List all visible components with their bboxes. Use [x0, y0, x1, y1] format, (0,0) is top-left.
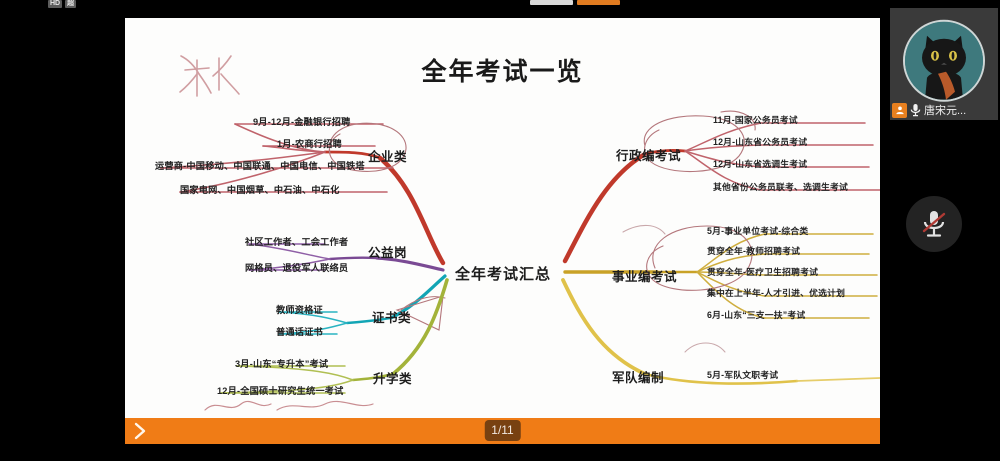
page-indicator: 1/11 [484, 420, 520, 441]
leaf-xingzheng-2: 12月-山东省公务员考试 [713, 135, 807, 148]
participant-name: 唐宋元... [924, 102, 966, 118]
leaf-zhengshu-1: 教师资格证 [276, 302, 323, 316]
leaf-shiye-1: 5月-事业单位考试-综合类 [707, 224, 808, 237]
leaf-shiye-5: 6月-山东“三支一扶”考试 [707, 308, 805, 321]
meeting-screen-share-view: HD 超 全年考试一览 [0, 0, 1000, 461]
microphone-muted-icon[interactable] [920, 209, 948, 239]
mindmap-center-node: 全年考试汇总 [455, 263, 551, 284]
leaf-shengxue-1: 3月-山东“专升本”考试 [235, 356, 328, 370]
leaf-qiye-1: 9月-12月-金融银行招聘 [253, 114, 351, 128]
leaf-xingzheng-4: 其他省份公务员联考、选调生考试 [713, 180, 848, 193]
leaf-qiye-3: 运营商-中国移动、中国联通、中国电信、中国铁塔 [155, 158, 365, 172]
branch-label-qiye: 企业类 [368, 146, 407, 165]
quality-badge: 超 [65, 0, 76, 8]
cat-avatar-icon [905, 22, 983, 100]
leaf-xingzheng-1: 11月-国家公务员考试 [713, 113, 798, 126]
microphone-icon [910, 103, 921, 117]
video-quality-badges: HD 超 [48, 0, 76, 9]
strip-segment-accent [577, 0, 620, 5]
leaf-shiye-2: 贯穿全年-教师招聘考试 [707, 244, 800, 257]
shared-slide: 全年考试一览 [125, 18, 880, 418]
branch-label-shengxue: 升学类 [373, 368, 412, 387]
leaf-qiye-4: 国家电网、中国烟草、中石油、中石化 [180, 182, 340, 196]
mute-microphone-button[interactable] [906, 196, 962, 252]
host-icon [892, 103, 907, 118]
leaf-gongyi-1: 社区工作者、工会工作者 [245, 234, 348, 248]
leaf-shengxue-2: 12月-全国硕士研究生统一考试 [217, 383, 344, 397]
slide-navigation-bar[interactable]: 1/11 [125, 418, 880, 444]
chevron-right-icon[interactable] [132, 422, 148, 440]
avatar [903, 20, 985, 102]
leaf-xingzheng-3: 12月-山东省选调生考试 [713, 157, 807, 170]
branch-label-jundui: 军队编制 [612, 367, 664, 386]
leaf-shiye-3: 贯穿全年-医疗卫生招聘考试 [707, 265, 818, 278]
strip-segment-light [530, 0, 573, 5]
leaf-shiye-4: 集中在上半年-人才引进、优选计划 [707, 286, 845, 299]
branch-label-shiye: 事业编考试 [612, 266, 677, 285]
leaf-gongyi-2: 网格员、退役军人联络员 [245, 260, 348, 274]
hd-badge: HD [48, 0, 62, 8]
leaf-jundui-1: 5月-军队文职考试 [707, 368, 778, 381]
leaf-zhengshu-2: 普通话证书 [276, 324, 323, 338]
participant-tile[interactable]: 唐宋元... [890, 8, 998, 120]
branch-label-zhengshu: 证书类 [372, 307, 411, 326]
participant-name-bar: 唐宋元... [890, 100, 998, 120]
branch-label-xingzheng: 行政编考试 [616, 145, 681, 164]
top-control-strip [530, 0, 620, 5]
branch-label-gongyi: 公益岗 [368, 242, 407, 261]
leaf-qiye-2: 1月-农商行招聘 [277, 136, 342, 150]
